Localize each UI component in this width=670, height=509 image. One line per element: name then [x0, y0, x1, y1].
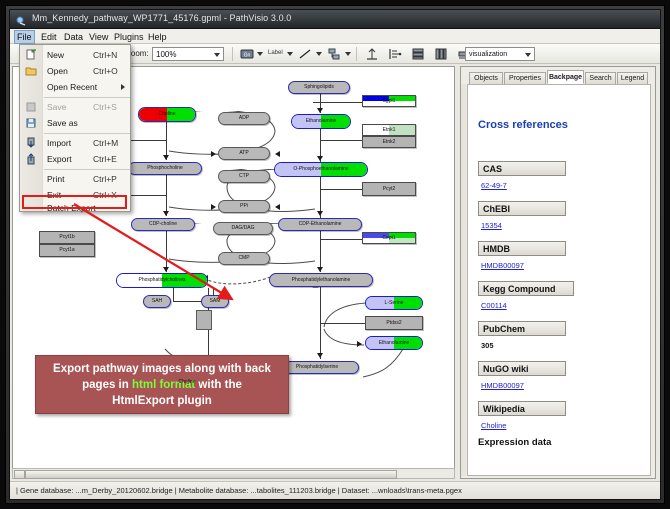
menu-view[interactable]: View	[86, 31, 111, 43]
line-tool[interactable]	[298, 47, 312, 61]
node-label: Etnk2	[383, 140, 396, 145]
node-label: Ethanolamine	[366, 341, 422, 346]
node-label: Cept1	[363, 236, 415, 241]
menu-item-label: New	[47, 50, 64, 60]
new-document-icon	[25, 49, 37, 61]
backpage-heading: Cross references	[478, 119, 568, 131]
import-icon	[25, 137, 37, 149]
menu-item-accel: Ctrl+O	[93, 66, 118, 76]
xref-value-wikipedia[interactable]: Choline	[481, 421, 506, 430]
shape-tool[interactable]	[327, 47, 341, 61]
pathway-node-ethanolamine-2[interactable]: Ethanolamine	[365, 336, 423, 350]
panel-tab-strip: Objects Properties Backpage Search Legen…	[461, 70, 657, 84]
datanode-dropdown-icon[interactable]	[257, 52, 263, 56]
node-label: Phosphatidylserine	[296, 365, 338, 370]
arrow-icon	[317, 353, 323, 358]
scroll-left-arrow[interactable]	[14, 470, 25, 479]
arrow-icon	[275, 151, 280, 157]
window-title: Mm_Kennedy_pathway_WP1771_45176.gpml - P…	[32, 13, 291, 23]
menu-item-accel: Ctrl+M	[93, 138, 118, 148]
menu-item-label: Print	[47, 174, 64, 184]
screenshot-frame: Mm_Kennedy_pathway_WP1771_45176.gpml - P…	[0, 0, 670, 509]
pathway-gene-pcyt2[interactable]: Pcyt2	[362, 182, 416, 196]
node-label: Phosphocholine	[147, 166, 183, 171]
pathway-node-ethanolamine[interactable]: Ethanolamine	[291, 114, 351, 129]
label-tool[interactable]: Label	[268, 50, 283, 64]
node-label: Ethanolamine	[292, 119, 350, 124]
menu-data[interactable]: Data	[61, 31, 86, 43]
menu-item-import[interactable]: Import Ctrl+M	[21, 136, 131, 150]
pathway-gene-etnk2[interactable]: Etnk2	[362, 136, 416, 148]
distribute-vertical-tool[interactable]	[411, 47, 425, 61]
zoom-value: 100%	[156, 50, 176, 59]
edge-etnk	[320, 140, 362, 141]
open-folder-icon	[25, 65, 37, 77]
tab-properties[interactable]: Properties	[504, 72, 546, 84]
node-label: O-Phosphoethanolamine	[275, 167, 367, 172]
node-label: ATP	[239, 151, 248, 156]
canvas-hscrollbar[interactable]	[12, 468, 455, 479]
node-label: Sgpl1	[363, 99, 415, 104]
menu-bar: File Edit Data View Plugins Help	[10, 29, 660, 44]
pathway-node-choline[interactable]: Choline	[138, 107, 196, 122]
pathway-node-l-serine[interactable]: L-Serine	[365, 296, 423, 310]
xref-header-nugo: NuGO wiki	[478, 361, 566, 376]
pathway-node-phosphatidylethanolamine[interactable]: Phosphatidylethanolamine	[269, 273, 373, 287]
menu-item-print[interactable]: Print Ctrl+P	[21, 172, 131, 186]
xref-header-cas: CAS	[478, 161, 566, 176]
arrow-icon	[317, 108, 323, 113]
menu-plugins[interactable]: Plugins	[111, 31, 147, 43]
xref-header-hmdb: HMDB	[478, 241, 566, 256]
pathway-node-atp[interactable]: ATP	[218, 147, 270, 160]
tab-legend[interactable]: Legend	[617, 72, 648, 84]
red-pointer-arrow	[70, 200, 270, 320]
callout-line-1: Export pathway images along with back	[53, 361, 271, 377]
menu-item-label: Export	[47, 154, 72, 164]
node-label: Choline	[159, 112, 176, 117]
pathway-node-sphingolipids[interactable]: Sphingolipids	[288, 81, 350, 94]
menu-help[interactable]: Help	[145, 31, 170, 43]
menu-separator	[44, 169, 130, 170]
toolbar-separator	[356, 47, 357, 61]
svg-text:Gn: Gn	[244, 53, 251, 59]
title-bar: Mm_Kennedy_pathway_WP1771_45176.gpml - P…	[10, 10, 660, 29]
node-label: ADP	[239, 116, 249, 121]
pathway-gene-etnk1[interactable]: Etnk1	[362, 124, 416, 136]
pathway-gene-sgpl1[interactable]: Sgpl1	[362, 95, 416, 107]
xref-value-chebi[interactable]: 15354	[481, 221, 502, 230]
pathway-gene-cept1[interactable]: Cept1	[362, 232, 416, 244]
tab-search[interactable]: Search	[585, 72, 616, 84]
chevron-down-icon	[214, 53, 220, 57]
pathway-node-ctp[interactable]: CTP	[218, 170, 270, 183]
backpage-content: Cross references CAS 62-49-7 ChEBI 15354…	[467, 84, 651, 476]
xref-header-wikipedia: Wikipedia	[478, 401, 566, 416]
menu-item-label: Import	[47, 138, 71, 148]
visualization-value: visualization	[469, 51, 507, 58]
line-dropdown-icon[interactable]	[316, 52, 322, 56]
menu-item-save: Save Ctrl+S	[21, 100, 131, 114]
edge-ptdss2	[320, 323, 365, 324]
menu-item-new[interactable]: New Ctrl+N	[21, 48, 131, 62]
pathway-node-cdp-ethanolamine[interactable]: CDP-Ethanolamine	[278, 218, 362, 231]
menu-file[interactable]: File	[14, 30, 35, 44]
pathway-node-adp[interactable]: ADP	[218, 112, 270, 125]
toolbar-separator	[232, 47, 233, 61]
xref-header-chebi: ChEBI	[478, 201, 566, 216]
tab-objects[interactable]: Objects	[469, 72, 503, 84]
node-label: Phosphatidylcholines	[117, 278, 207, 283]
xref-value-kegg[interactable]: C00114	[481, 301, 507, 310]
menu-item-open-recent[interactable]: Open Recent	[21, 80, 131, 94]
right-side-panel: Objects Properties Backpage Search Legen…	[460, 66, 656, 479]
xref-value-pubchem: 305	[481, 341, 494, 350]
menu-edit[interactable]: Edit	[38, 31, 60, 43]
distribute-horizontal-tool[interactable]	[434, 47, 448, 61]
expression-data-heading: Expression data	[478, 437, 551, 448]
callout-line-2-a: pages in	[82, 379, 132, 391]
menu-item-label: Open	[47, 66, 68, 76]
export-icon	[25, 153, 37, 165]
pathvisio-icon	[16, 14, 27, 25]
scroll-thumb[interactable]	[25, 470, 397, 479]
xref-value-nugo[interactable]: HMDB00097	[481, 381, 524, 390]
menu-item-label: Save as	[47, 118, 78, 128]
chevron-down-icon	[525, 53, 531, 57]
xref-header-pubchem: PubChem	[478, 321, 566, 336]
panel-scroll-track[interactable]	[461, 84, 466, 476]
node-label: Etnk1	[363, 128, 415, 133]
status-bar: | Gene database: ...m_Derby_20120602.bri…	[10, 481, 660, 499]
menu-item-accel: Ctrl+N	[93, 50, 117, 60]
zoom-combo[interactable]: 100%	[152, 47, 224, 61]
edge-sgpl1-link	[313, 102, 363, 103]
menu-item-export[interactable]: Export Ctrl+E	[21, 152, 131, 166]
submenu-arrow-icon	[121, 84, 125, 90]
xref-header-kegg: Kegg Compound	[478, 281, 574, 296]
menu-item-label: Save	[47, 102, 66, 112]
choline-return	[353, 347, 413, 381]
align-top-tool[interactable]	[365, 47, 379, 61]
menu-item-accel: Ctrl+E	[93, 154, 117, 164]
save-as-icon	[25, 117, 37, 129]
tab-backpage[interactable]: Backpage	[547, 70, 584, 84]
node-label: CDP-Ethanolamine	[299, 222, 342, 227]
pathway-node-o-phosphoethanolamine[interactable]: O-Phosphoethanolamine	[274, 162, 368, 177]
file-menu-dropdown[interactable]: New Ctrl+N Open Ctrl+O Open Recent Save …	[19, 44, 131, 212]
xref-value-hmdb[interactable]: HMDB00097	[481, 261, 524, 270]
node-label: Ptdss2	[386, 321, 401, 326]
pathway-node-phosphocholine[interactable]: Phosphocholine	[128, 162, 202, 175]
label-dropdown-icon[interactable]	[287, 52, 293, 56]
menu-item-accel: Ctrl+S	[93, 102, 117, 112]
menu-item-label: Open Recent	[47, 82, 97, 92]
save-disk-icon	[25, 101, 37, 113]
pathway-gene-ptdss2[interactable]: Ptdss2	[365, 316, 423, 330]
callout-line-3: HtmlExport plugin	[112, 393, 212, 409]
xref-value-cas[interactable]: 62-49-7	[481, 181, 507, 190]
arrow-icon	[317, 156, 323, 161]
menu-separator	[44, 97, 130, 98]
edge-pcyt2	[320, 189, 362, 190]
node-label: L-Serine	[366, 301, 422, 306]
node-label: Sphingolipids	[304, 85, 334, 90]
align-left-tool[interactable]	[388, 47, 402, 61]
node-label: Choline	[158, 379, 216, 385]
menu-separator	[44, 133, 130, 134]
menu-item-open[interactable]: Open Ctrl+O	[21, 64, 131, 78]
menu-item-accel: Ctrl+P	[93, 174, 117, 184]
arrow-icon	[211, 151, 216, 157]
node-label: Phosphatidylethanolamine	[292, 278, 351, 283]
status-text: | Gene database: ...m_Derby_20120602.bri…	[16, 486, 462, 495]
menu-item-save-as[interactable]: Save as	[21, 116, 131, 130]
shape-dropdown-icon[interactable]	[345, 52, 351, 56]
node-label: CTP	[239, 174, 249, 179]
pathvisio-window: Mm_Kennedy_pathway_WP1771_45176.gpml - P…	[9, 9, 661, 500]
visualization-combo[interactable]: visualization	[465, 47, 535, 61]
node-label: Pcyt2	[383, 187, 396, 192]
datanode-tool[interactable]: Gn	[240, 47, 254, 61]
edge-cept1	[320, 239, 362, 240]
